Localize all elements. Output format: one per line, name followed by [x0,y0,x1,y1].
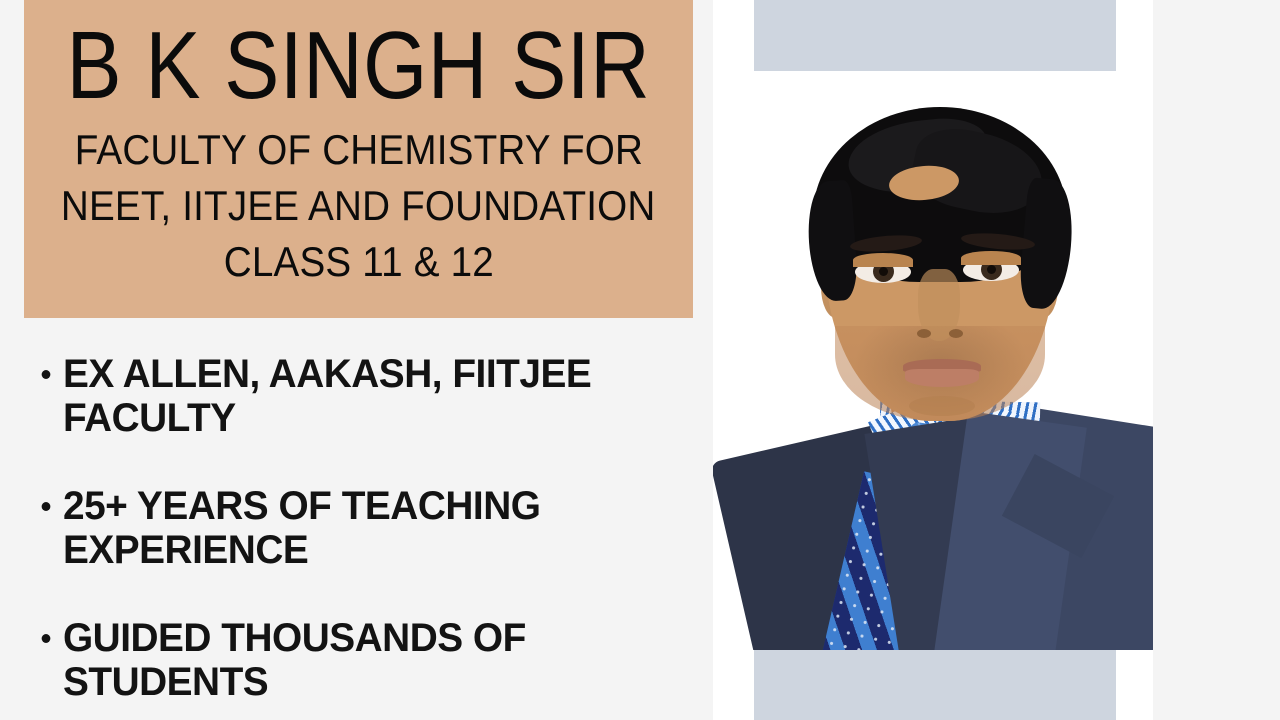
highlights-list: EX ALLEN, AAKASH, FIITJEE FACULTY 25+ YE… [30,352,710,704]
portrait-photo [713,71,1153,650]
nostril-left [917,329,931,338]
list-item-label: EX ALLEN, AAKASH, FIITJEE FACULTY [63,352,690,440]
subtitle-line-2: NEET, IITJEE AND FOUNDATION [61,178,656,234]
subtitle-line-1: FACULTY OF CHEMISTRY FOR [74,122,642,178]
list-item: 25+ YEARS OF TEACHING EXPERIENCE [30,484,690,572]
list-item: EX ALLEN, AAKASH, FIITJEE FACULTY [30,352,690,440]
bullet-dot-icon [42,370,51,379]
bullet-dot-icon [42,502,51,511]
nostril-right [949,329,963,338]
list-item-label: 25+ YEARS OF TEACHING EXPERIENCE [63,484,690,572]
accent-rectangle-top [754,0,1116,71]
title-block: B K SINGH SIR FACULTY OF CHEMISTRY FOR N… [24,0,693,318]
page-title: B K SINGH SIR [67,14,651,118]
list-item-label: GUIDED THOUSANDS OF STUDENTS [63,616,690,704]
lower-lip [905,369,979,387]
slide-canvas: B K SINGH SIR FACULTY OF CHEMISTRY FOR N… [0,0,1280,720]
hair-side-left [805,180,859,303]
eyelid-left [853,253,913,267]
pupil-right [987,265,996,274]
eyelid-right [961,251,1021,265]
list-item: GUIDED THOUSANDS OF STUDENTS [30,616,690,704]
accent-rectangle-bottom [754,650,1116,720]
chin-shading [909,396,975,416]
bullet-dot-icon [42,634,51,643]
pupil-left [879,267,888,276]
subtitle-line-3: CLASS 11 & 12 [223,234,493,290]
